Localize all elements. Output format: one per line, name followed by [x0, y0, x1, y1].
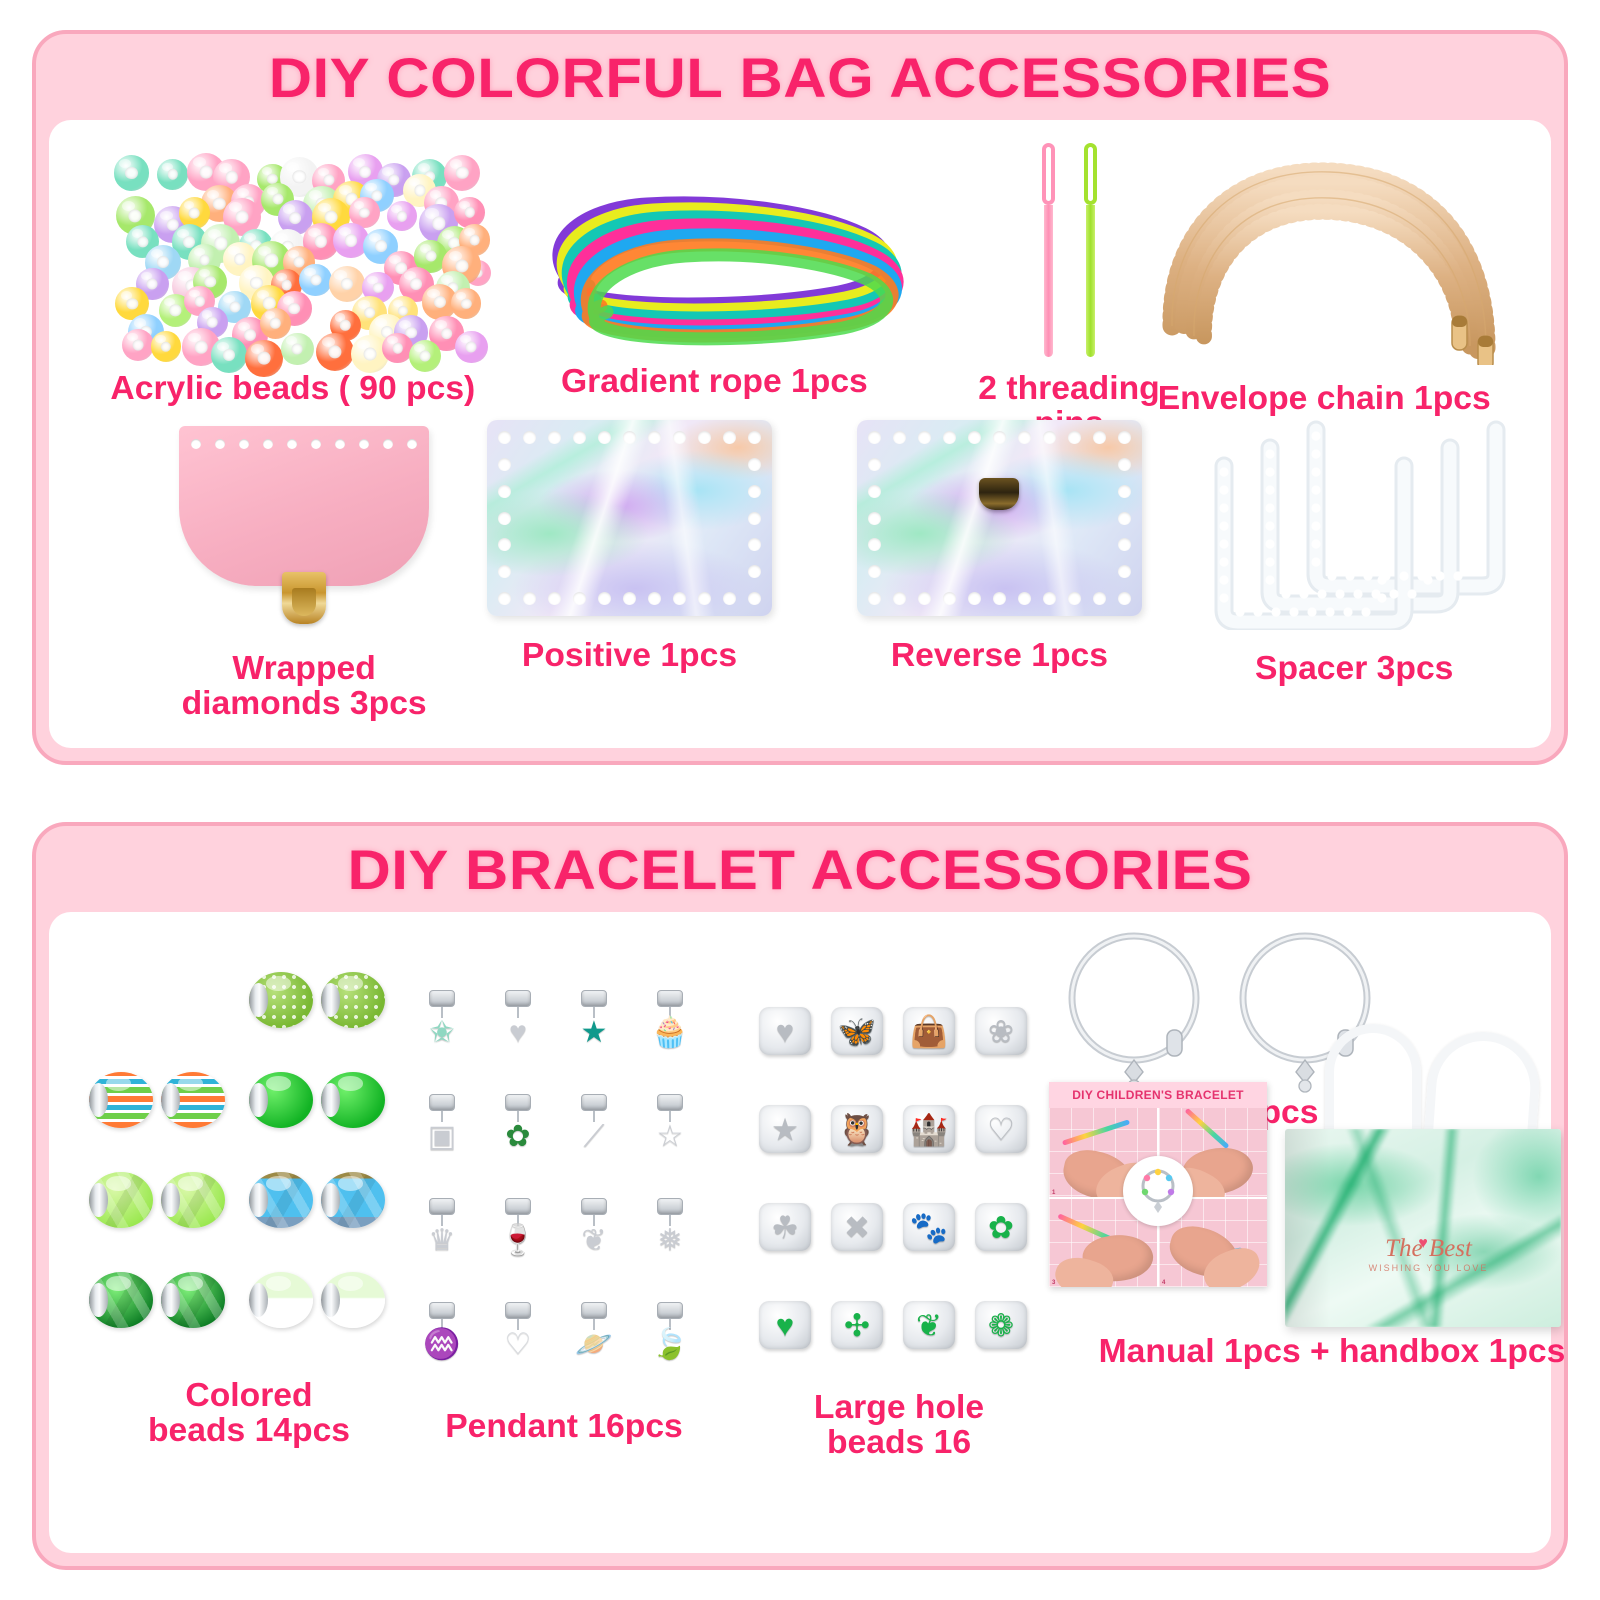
emerald-faceted-bead: [161, 1272, 225, 1328]
panel-hole: [868, 592, 881, 605]
bead-body: ☘: [759, 1203, 811, 1251]
item-label-reverse: Reverse 1pcs: [890, 638, 1107, 673]
panel-hole: [943, 431, 956, 444]
item-label-acrylic-beads: Acrylic beads ( 90 pcs): [111, 371, 476, 406]
green-flower-bead: ✿: [965, 1178, 1037, 1276]
bead-body: ♡: [975, 1105, 1027, 1153]
panel-hole: [498, 512, 511, 525]
charm-bail: [505, 990, 531, 1007]
bead-core: [321, 1183, 340, 1217]
item-envelope-chain: Envelope chain 1pcs: [1124, 140, 1524, 416]
charm-body: ❦: [581, 1226, 606, 1256]
panel-hole: [548, 431, 561, 444]
bag-brand-tagline: WISHING YOU LOVE: [1369, 1263, 1489, 1273]
panel-hole: [523, 431, 536, 444]
bag-body: The Best WISHING YOU LOVE ♥: [1285, 1129, 1561, 1327]
item-label-gradient-rope: Gradient rope 1pcs: [561, 364, 868, 399]
panel-hole: [918, 431, 931, 444]
bead-body: ❀: [975, 1007, 1027, 1055]
panel-hole: [868, 538, 881, 551]
manual-header: DIY CHILDREN'S BRACELET: [1049, 1082, 1267, 1108]
bead-core: [249, 1283, 268, 1317]
striped-bead: [89, 1072, 153, 1128]
gold-chain-strap-icon: [1134, 140, 1514, 365]
pale-green-bead: [249, 1272, 313, 1328]
panel-hole: [523, 592, 536, 605]
charm-bail: [505, 1094, 531, 1111]
high-heel-charm: ⟋: [556, 1071, 632, 1175]
charm-bail: [429, 990, 455, 1007]
panel-hole: [1118, 485, 1131, 498]
item-wrapped-diamonds: Wrapped diamonds 3pcs: [109, 420, 499, 721]
charm-bail: [581, 1094, 607, 1111]
panel-hole: [748, 485, 761, 498]
group-pendants: ✬♥★🧁▣✿⟋☆♛🍷❦❅♒♡🪐🍃 Pendant 16pcs: [404, 967, 724, 1444]
owl-bead: 🦉: [821, 1080, 893, 1178]
x-flower-bead: ✖: [821, 1178, 893, 1276]
panel-hole: [1068, 592, 1081, 605]
striped-bead: [161, 1072, 225, 1128]
rose-bead: ❀: [965, 982, 1037, 1080]
heart-icon: ♥: [1418, 1235, 1428, 1253]
bead-body: ❦: [903, 1301, 955, 1349]
panel-bag-accessories: DIY COLORFUL BAG ACCESSORIES Acrylic bea…: [32, 30, 1568, 765]
bead-body: ♥: [759, 1301, 811, 1349]
panel-hole: [698, 592, 711, 605]
panel-hole: [1118, 512, 1131, 525]
panel-hole: [918, 592, 931, 605]
manual-step-number: 1: [1052, 1190, 1055, 1196]
bead-core: [161, 1283, 180, 1317]
panel-hole: [648, 431, 661, 444]
panel-hole: [623, 592, 636, 605]
panel-hole: [868, 458, 881, 471]
charm-body: ♛: [429, 1226, 456, 1256]
manual-booklet-icon: DIY CHILDREN'S BRACELET 1: [1049, 1082, 1267, 1287]
panel-hole: [723, 592, 736, 605]
manual-step-number: 3: [1052, 1280, 1055, 1286]
star-outline-charm: ☆: [632, 1071, 708, 1175]
emerald-faceted-bead: [89, 1272, 153, 1328]
manual-logo-badge: [1123, 1156, 1193, 1226]
panel-hole: [1018, 431, 1031, 444]
panel-hole: [1068, 431, 1081, 444]
bead-core: [89, 1083, 108, 1117]
panel-hole: [1018, 592, 1031, 605]
panel-hole: [673, 431, 686, 444]
bead-body: 🐾: [903, 1203, 955, 1251]
charm-body: ❅: [657, 1226, 682, 1256]
green-paw-bead: ❦: [893, 1276, 965, 1374]
item-reverse-panel: Reverse 1pcs: [839, 420, 1159, 673]
acrylic-bead: [151, 331, 182, 362]
charm-body: 🍷: [499, 1226, 536, 1256]
panel-hole: [993, 431, 1006, 444]
star-charm: ★: [556, 967, 632, 1071]
charm-body: ☆: [657, 1122, 684, 1152]
bead-core: [321, 983, 340, 1017]
charm-bail: [505, 1302, 531, 1319]
acrylic-bead: [409, 340, 441, 372]
item-label-envelope-chain: Envelope chain 1pcs: [1158, 381, 1491, 416]
light-green-faceted-bead: [161, 1172, 225, 1228]
green-glass-bead: [249, 1072, 313, 1128]
group-label-pendant: Pendant 16pcs: [401, 1409, 727, 1444]
flap-holes: [191, 439, 417, 449]
star-bead: ★: [749, 1080, 821, 1178]
cupcake-charm: 🧁: [632, 967, 708, 1071]
paw-bead: 🐾: [893, 1178, 965, 1276]
panel-hole: [1043, 592, 1056, 605]
acrylic-bead: [122, 329, 154, 361]
item-label-positive: Positive 1pcs: [521, 638, 736, 673]
pendant-grid: ✬♥★🧁▣✿⟋☆♛🍷❦❅♒♡🪐🍃: [404, 967, 724, 1383]
flap-clasp-icon: [282, 572, 326, 624]
bead-body: 🦉: [831, 1105, 883, 1153]
green-rhinestone-bead: [249, 972, 313, 1028]
bead-core: [161, 1083, 180, 1117]
panel-hole: [968, 592, 981, 605]
acrylic-bead: [245, 340, 283, 378]
item-gradient-rope: Gradient rope 1pcs: [519, 152, 909, 399]
item-spacer: Spacer 3pcs: [1189, 420, 1519, 686]
crown-charm: ♛: [404, 1175, 480, 1279]
panel-hole: [1093, 592, 1106, 605]
u-shaped-spacer-strips-icon: [1214, 420, 1494, 635]
pink-needle-icon: [1042, 143, 1055, 357]
panel-hole: [968, 431, 981, 444]
acrylic-bead: [114, 155, 150, 191]
planet-charm: 🪐: [556, 1279, 632, 1383]
group-manual: DIY CHILDREN'S BRACELET 1: [1049, 1082, 1267, 1287]
green-needle-icon: [1084, 143, 1097, 357]
bead-core: [249, 983, 268, 1017]
bead-core: [321, 1283, 340, 1317]
panel-hole: [1118, 592, 1131, 605]
heart-bead: ♥: [749, 982, 821, 1080]
bead-core: [161, 1183, 180, 1217]
panel-hole: [1118, 458, 1131, 471]
charm-body: 🧁: [651, 1018, 688, 1048]
leaf-charm: ❦: [556, 1175, 632, 1279]
holographic-panel-icon: [487, 420, 772, 616]
group-label-large-hole-beads: Large hole beads 16: [746, 1390, 1052, 1460]
item-label-wrapped-diamonds: Wrapped diamonds 3pcs: [181, 651, 426, 721]
green-clover-bead: ❁: [965, 1276, 1037, 1374]
charm-body: 🪐: [575, 1330, 612, 1360]
colored-beads-grid: [89, 972, 399, 1372]
pale-green-bead: [321, 1272, 385, 1328]
manual-step-number: 4: [1162, 1280, 1165, 1286]
bead-core: [249, 1183, 268, 1217]
charm-body: ✬: [429, 1018, 454, 1048]
starfish-charm: ✬: [404, 967, 480, 1071]
green-rhinestone-bead: [321, 972, 385, 1028]
panel-hole: [893, 592, 906, 605]
panel-hole: [598, 431, 611, 444]
wine-glass-charm: 🍷: [480, 1175, 556, 1279]
bead-body: ❁: [975, 1301, 1027, 1349]
acrylic-bead: [329, 266, 365, 302]
charm-bail: [505, 1198, 531, 1215]
rainbow-cord-coil-icon: [519, 152, 909, 352]
acrylic-bead: [157, 159, 188, 190]
panel-hole: [868, 485, 881, 498]
panel-title-bag: DIY COLORFUL BAG ACCESSORIES: [32, 34, 1568, 120]
bead-body: ✣: [831, 1301, 883, 1349]
panel-hole: [868, 512, 881, 525]
panel-hole: [868, 565, 881, 578]
large-hole-beads-grid: ♥🦋👜❀★🦉🏰♡☘✖🐾✿♥✣❦❁: [749, 982, 1049, 1374]
panel-hole: [723, 431, 736, 444]
bag-brand-name: The Best: [1385, 1235, 1472, 1262]
panel-hole: [498, 431, 511, 444]
panel-lock-icon: [979, 478, 1019, 510]
acrylic-bead: [260, 308, 291, 339]
charm-body: ▣: [428, 1122, 456, 1152]
panel-hole: [1093, 431, 1106, 444]
panel-hole: [868, 431, 881, 444]
plastic-needles-icon: [994, 142, 1144, 357]
green-hearts-bead: ♥: [749, 1276, 821, 1374]
charm-body: ♥: [509, 1018, 527, 1048]
panel-hole: [648, 592, 661, 605]
acrylic-bead: [387, 201, 417, 231]
panel-hole: [548, 592, 561, 605]
panel-hole: [748, 592, 761, 605]
bead-body: ★: [759, 1105, 811, 1153]
group-colored-beads: Colored beads 14pcs: [89, 972, 409, 1448]
mermaid-charm: ♒: [404, 1279, 480, 1383]
panel-hole: [498, 565, 511, 578]
gift-handbox-icon: The Best WISHING YOU LOVE ♥: [1277, 1022, 1568, 1327]
charm-body: ♡: [505, 1330, 532, 1360]
item-label-spacer: Spacer 3pcs: [1255, 651, 1453, 686]
acrylic-bead: [299, 264, 332, 297]
charm-bail: [581, 1198, 607, 1215]
panel-hole: [498, 538, 511, 551]
double-heart-charm: ♡: [480, 1279, 556, 1383]
bead-core: [321, 1083, 340, 1117]
acrylic-bead: [451, 288, 482, 319]
camera-charm: ▣: [404, 1071, 480, 1175]
charm-bail: [657, 1198, 683, 1215]
blue-faceted-bead: [249, 1172, 313, 1228]
panel-hole: [993, 592, 1006, 605]
leaf-green-charm: 🍃: [632, 1279, 708, 1383]
item-acrylic-beads: Acrylic beads ( 90 pcs): [93, 142, 493, 406]
panel-hole: [498, 592, 511, 605]
panel-hole: [698, 431, 711, 444]
group-large-hole-beads: ♥🦋👜❀★🦉🏰♡☘✖🐾✿♥✣❦❁ Large hole beads 16: [749, 982, 1049, 1460]
charm-bail: [429, 1198, 455, 1215]
charm-bail: [657, 1302, 683, 1319]
panel-hole: [573, 592, 586, 605]
pink-leather-flap-icon: [179, 420, 429, 635]
acrylic-bead: [281, 333, 313, 365]
group-giftbag: The Best WISHING YOU LOVE ♥ Manual 1pcs …: [1277, 1022, 1568, 1327]
blue-faceted-bead: [321, 1172, 385, 1228]
charm-bail: [581, 1302, 607, 1319]
acrylic-bead: [454, 197, 485, 228]
group-label-colored-beads: Colored beads 14pcs: [86, 1378, 412, 1448]
bracelet-chain-icon: [1049, 922, 1208, 1087]
acrylic-bead: [316, 333, 355, 372]
bead-body: 🦋: [831, 1007, 883, 1055]
bag-brand-logo: The Best WISHING YOU LOVE: [1369, 1235, 1489, 1273]
panel-hole: [673, 592, 686, 605]
panel-hole: [598, 592, 611, 605]
panel-hole: [498, 485, 511, 498]
charm-bail: [657, 1094, 683, 1111]
bead-body: ✖: [831, 1203, 883, 1251]
acrylic-bead: [444, 155, 481, 192]
light-green-faceted-bead: [89, 1172, 153, 1228]
panel-hole: [498, 458, 511, 471]
bead-body: 👜: [903, 1007, 955, 1055]
panel-hole: [623, 431, 636, 444]
bead-body: ✿: [975, 1203, 1027, 1251]
acrylic-bead: [455, 331, 487, 363]
double-heart-bead: ♡: [965, 1080, 1037, 1178]
daisy-flower-charm: ✿: [480, 1071, 556, 1175]
panel-hole: [1118, 565, 1131, 578]
handbag-bead: 👜: [893, 982, 965, 1080]
charm-body: ♒: [423, 1330, 460, 1360]
group-label-manual-handbox: Manual 1pcs + handbox 1pcs: [1046, 1334, 1568, 1369]
panel-bracelet-accessories: DIY BRACELET ACCESSORIES Colored beads 1…: [32, 822, 1568, 1570]
charm-body: ★: [581, 1018, 608, 1048]
heart-filigree-charm: ♥: [480, 967, 556, 1071]
snowflake-charm: ❅: [632, 1175, 708, 1279]
panel-hole: [1118, 538, 1131, 551]
charm-body: 🍃: [651, 1330, 688, 1360]
panel-body-bag: Acrylic beads ( 90 pcs): [49, 120, 1551, 748]
panel-hole: [943, 592, 956, 605]
pony-beads-pile-icon: [93, 142, 493, 357]
panel-hole: [748, 565, 761, 578]
charm-bail: [581, 990, 607, 1007]
panel-title-bracelet: DIY BRACELET ACCESSORIES: [32, 826, 1568, 912]
holographic-panel-with-lock-icon: [857, 420, 1142, 616]
clover-bead: ☘: [749, 1178, 821, 1276]
charm-body: ✿: [505, 1122, 530, 1152]
green-glass-bead: [321, 1072, 385, 1128]
bead-body: 🏰: [903, 1105, 955, 1153]
product-infographic: DIY COLORFUL BAG ACCESSORIES Acrylic bea…: [0, 0, 1600, 1600]
acrylic-bead: [211, 337, 246, 372]
panel-hole: [573, 431, 586, 444]
bead-core: [89, 1283, 108, 1317]
item-positive-panel: Positive 1pcs: [469, 420, 789, 673]
panel-hole: [748, 512, 761, 525]
green-butterfly-bead: ✣: [821, 1276, 893, 1374]
panel-hole: [1043, 431, 1056, 444]
charm-body: ⟋: [584, 1122, 605, 1152]
panel-hole: [748, 431, 761, 444]
charm-bail: [429, 1094, 455, 1111]
bead-body: ♥: [759, 1007, 811, 1055]
charm-bail: [657, 990, 683, 1007]
panel-hole: [748, 458, 761, 471]
bead-core: [89, 1183, 108, 1217]
panel-hole: [1118, 431, 1131, 444]
panel-hole: [893, 431, 906, 444]
panel-hole: [748, 538, 761, 551]
charm-bail: [429, 1302, 455, 1319]
butterfly-bead: 🦋: [821, 982, 893, 1080]
bead-core: [249, 1083, 268, 1117]
castle-bead: 🏰: [893, 1080, 965, 1178]
panel-body-bracelet: Colored beads 14pcs ✬♥★🧁▣✿⟋☆♛🍷❦❅♒♡🪐🍃 Pen…: [49, 912, 1551, 1553]
